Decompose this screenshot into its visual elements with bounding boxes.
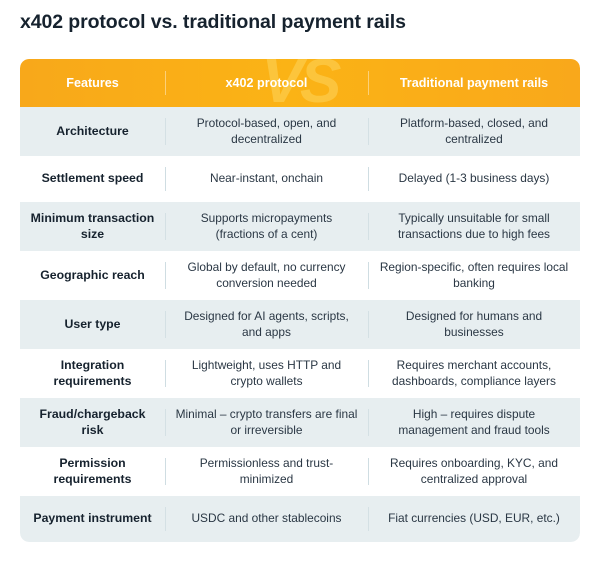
cell-text: USDC and other stablecoins (191, 511, 341, 527)
column-header-traditional-payment-rails: Traditional payment rails (368, 59, 580, 107)
row-feature-label: User type (20, 300, 165, 349)
table-row: Integration requirementsLightweight, use… (20, 349, 580, 398)
cell-text: Global by default, no currency conversio… (175, 260, 358, 291)
column-header-features: Features (20, 59, 165, 107)
row-cell-traditional: Typically unsuitable for small transacti… (368, 202, 580, 251)
table-row: User typeDesigned for AI agents, scripts… (20, 300, 580, 349)
comparison-infographic: x402 protocol vs. traditional payment ra… (0, 0, 600, 565)
row-cell-x402: Designed for AI agents, scripts, and app… (165, 300, 368, 349)
cell-text: Requires merchant accounts, dashboards, … (378, 358, 570, 389)
cell-text: Requires onboarding, KYC, and centralize… (378, 456, 570, 487)
row-cell-traditional: Region-specific, often requires local ba… (368, 251, 580, 300)
comparison-table: VS Features x402 protocol Traditional pa… (20, 59, 580, 542)
cell-text: Typically unsuitable for small transacti… (378, 211, 570, 242)
cell-text: Region-specific, often requires local ba… (378, 260, 570, 291)
cell-text: Settlement speed (42, 171, 144, 187)
cell-text: Designed for AI agents, scripts, and app… (175, 309, 358, 340)
row-feature-label: Settlement speed (20, 156, 165, 202)
cell-text: Minimal – crypto transfers are final or … (175, 407, 358, 438)
row-cell-x402: Minimal – crypto transfers are final or … (165, 398, 368, 447)
table-row: Settlement speedNear-instant, onchainDel… (20, 156, 580, 202)
cell-text: Permissionless and trust-minimized (175, 456, 358, 487)
row-cell-x402: Protocol-based, open, and decentralized (165, 107, 368, 156)
row-cell-x402: Global by default, no currency conversio… (165, 251, 368, 300)
row-cell-traditional: Fiat currencies (USD, EUR, etc.) (368, 496, 580, 542)
cell-text: Permission requirements (30, 456, 155, 487)
row-feature-label: Permission requirements (20, 447, 165, 496)
cell-text: Platform-based, closed, and centralized (378, 116, 570, 147)
row-cell-traditional: Delayed (1-3 business days) (368, 156, 580, 202)
row-cell-traditional: Platform-based, closed, and centralized (368, 107, 580, 156)
cell-text: High – requires dispute management and f… (378, 407, 570, 438)
row-feature-label: Architecture (20, 107, 165, 156)
table-header-row: VS Features x402 protocol Traditional pa… (20, 59, 580, 107)
row-cell-traditional: Designed for humans and businesses (368, 300, 580, 349)
cell-text: Delayed (1-3 business days) (399, 171, 550, 187)
row-cell-x402: Supports micropayments (fractions of a c… (165, 202, 368, 251)
cell-text: Payment instrument (33, 511, 151, 527)
cell-text: Geographic reach (40, 268, 145, 284)
cell-text: Near-instant, onchain (210, 171, 323, 187)
cell-text: Fraud/chargeback risk (30, 407, 155, 438)
row-cell-traditional: High – requires dispute management and f… (368, 398, 580, 447)
cell-text: Protocol-based, open, and decentralized (175, 116, 358, 147)
row-cell-x402: USDC and other stablecoins (165, 496, 368, 542)
cell-text: Lightweight, uses HTTP and crypto wallet… (175, 358, 358, 389)
cell-text: Integration requirements (30, 358, 155, 389)
table-row: Fraud/chargeback riskMinimal – crypto tr… (20, 398, 580, 447)
table-row: Payment instrumentUSDC and other stablec… (20, 496, 580, 542)
row-feature-label: Integration requirements (20, 349, 165, 398)
row-feature-label: Fraud/chargeback risk (20, 398, 165, 447)
table-row: ArchitectureProtocol-based, open, and de… (20, 107, 580, 156)
row-cell-traditional: Requires onboarding, KYC, and centralize… (368, 447, 580, 496)
page-title: x402 protocol vs. traditional payment ra… (20, 9, 406, 35)
row-cell-x402: Near-instant, onchain (165, 156, 368, 202)
table-row: Geographic reachGlobal by default, no cu… (20, 251, 580, 300)
row-feature-label: Minimum transaction size (20, 202, 165, 251)
table-row: Permission requirementsPermissionless an… (20, 447, 580, 496)
row-cell-x402: Permissionless and trust-minimized (165, 447, 368, 496)
cell-text: Fiat currencies (USD, EUR, etc.) (388, 511, 560, 527)
cell-text: Supports micropayments (fractions of a c… (175, 211, 358, 242)
cell-text: Designed for humans and businesses (378, 309, 570, 340)
row-cell-x402: Lightweight, uses HTTP and crypto wallet… (165, 349, 368, 398)
cell-text: Minimum transaction size (30, 211, 155, 242)
row-cell-traditional: Requires merchant accounts, dashboards, … (368, 349, 580, 398)
row-feature-label: Geographic reach (20, 251, 165, 300)
cell-text: Architecture (56, 124, 128, 140)
column-header-x402-protocol: x402 protocol (165, 59, 368, 107)
table-row: Minimum transaction sizeSupports micropa… (20, 202, 580, 251)
table-body: ArchitectureProtocol-based, open, and de… (20, 107, 580, 542)
cell-text: User type (64, 317, 120, 333)
row-feature-label: Payment instrument (20, 496, 165, 542)
